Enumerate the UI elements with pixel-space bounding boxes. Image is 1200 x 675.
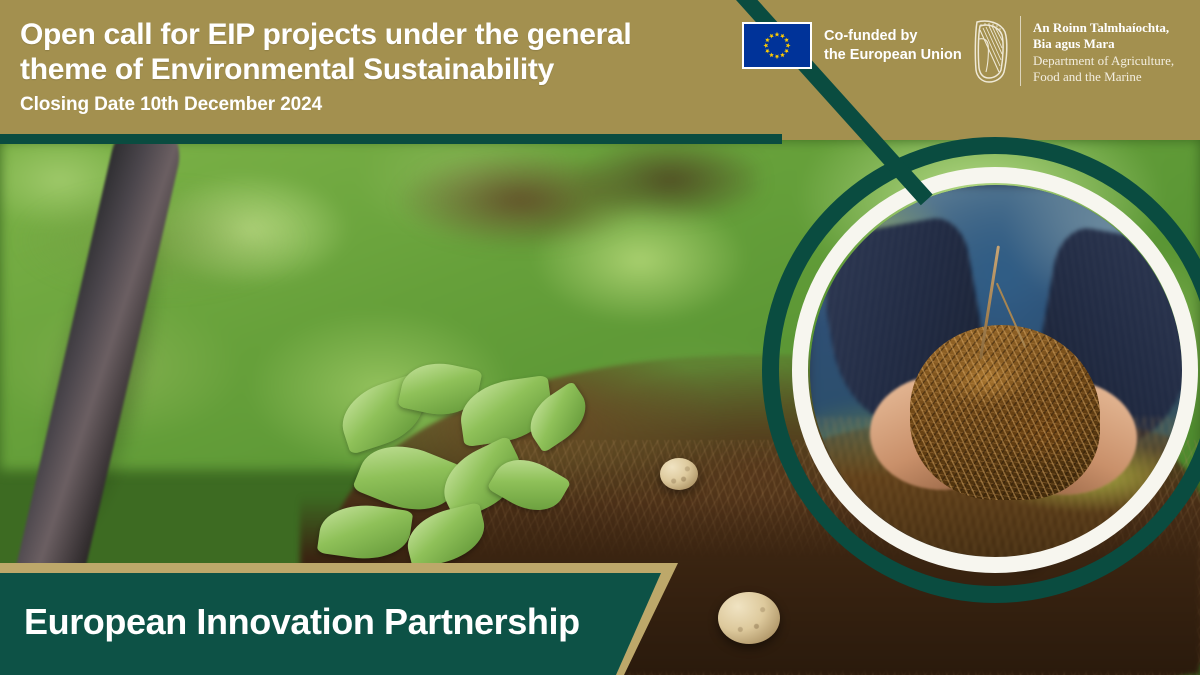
logo-divider <box>1020 16 1021 86</box>
irish-harp-icon <box>968 14 1014 88</box>
dafm-irish-name: An Roinn Talmhaíochta, Bia agus Mara <box>1033 20 1174 53</box>
eu-flag-icon <box>742 22 812 69</box>
dafm-name-block: An Roinn Talmhaíochta, Bia agus Mara Dep… <box>1033 14 1174 86</box>
closing-date: Closing Date 10th December 2024 <box>20 94 322 116</box>
page-title: Open call for EIP projects under the gen… <box>20 17 680 88</box>
dafm-english-name: Department of Agriculture, Food and the … <box>1033 53 1174 86</box>
eip-open-call-poster: Open call for EIP projects under the gen… <box>0 0 1200 675</box>
footer-label: European Innovation Partnership <box>24 601 580 643</box>
eu-cofunded-label: Co-funded by the European Union <box>824 27 962 64</box>
circle-inner-ring <box>792 167 1198 573</box>
eu-stars-icon <box>744 24 810 67</box>
dafm-logo: An Roinn Talmhaíochta, Bia agus Mara Dep… <box>968 14 1174 88</box>
eu-cofunded-logo: Co-funded by the European Union <box>742 22 962 69</box>
header-rule <box>0 134 782 144</box>
